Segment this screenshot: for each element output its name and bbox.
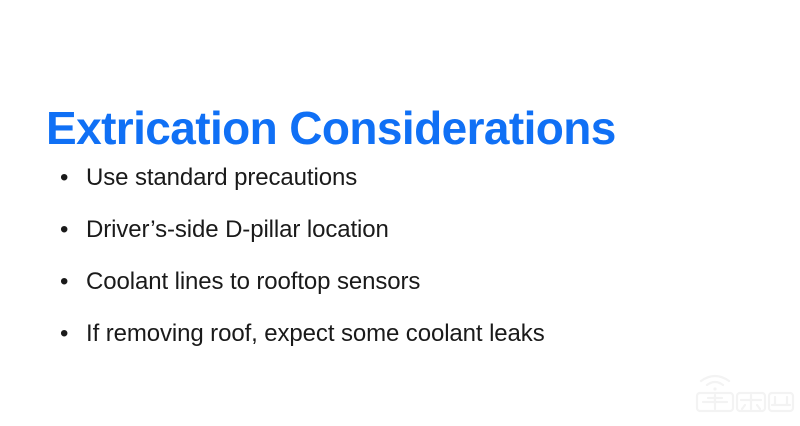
presentation-slide: Extrication Considerations • Use standar… bbox=[0, 0, 800, 426]
list-item: • Use standard precautions bbox=[58, 162, 758, 214]
bullet-point-icon: • bbox=[58, 318, 86, 350]
bullet-item-label: Coolant lines to rooftop sensors bbox=[86, 266, 758, 298]
bullet-item-label: Driver’s-side D-pillar location bbox=[86, 214, 758, 246]
list-item: • Driver’s-side D-pillar location bbox=[58, 214, 758, 266]
watermark bbox=[691, 370, 797, 416]
bullet-item-label: If removing roof, expect some coolant le… bbox=[86, 318, 758, 350]
bullet-list: • Use standard precautions • Driver’s-si… bbox=[58, 162, 758, 370]
watermark-logo-icon bbox=[691, 370, 797, 416]
bullet-point-icon: • bbox=[58, 266, 86, 298]
list-item: • If removing roof, expect some coolant … bbox=[58, 318, 758, 370]
bullet-point-icon: • bbox=[58, 214, 86, 246]
bullet-point-icon: • bbox=[58, 162, 86, 194]
list-item: • Coolant lines to rooftop sensors bbox=[58, 266, 758, 318]
bullet-item-label: Use standard precautions bbox=[86, 162, 758, 194]
slide-title: Extrication Considerations bbox=[46, 103, 616, 153]
